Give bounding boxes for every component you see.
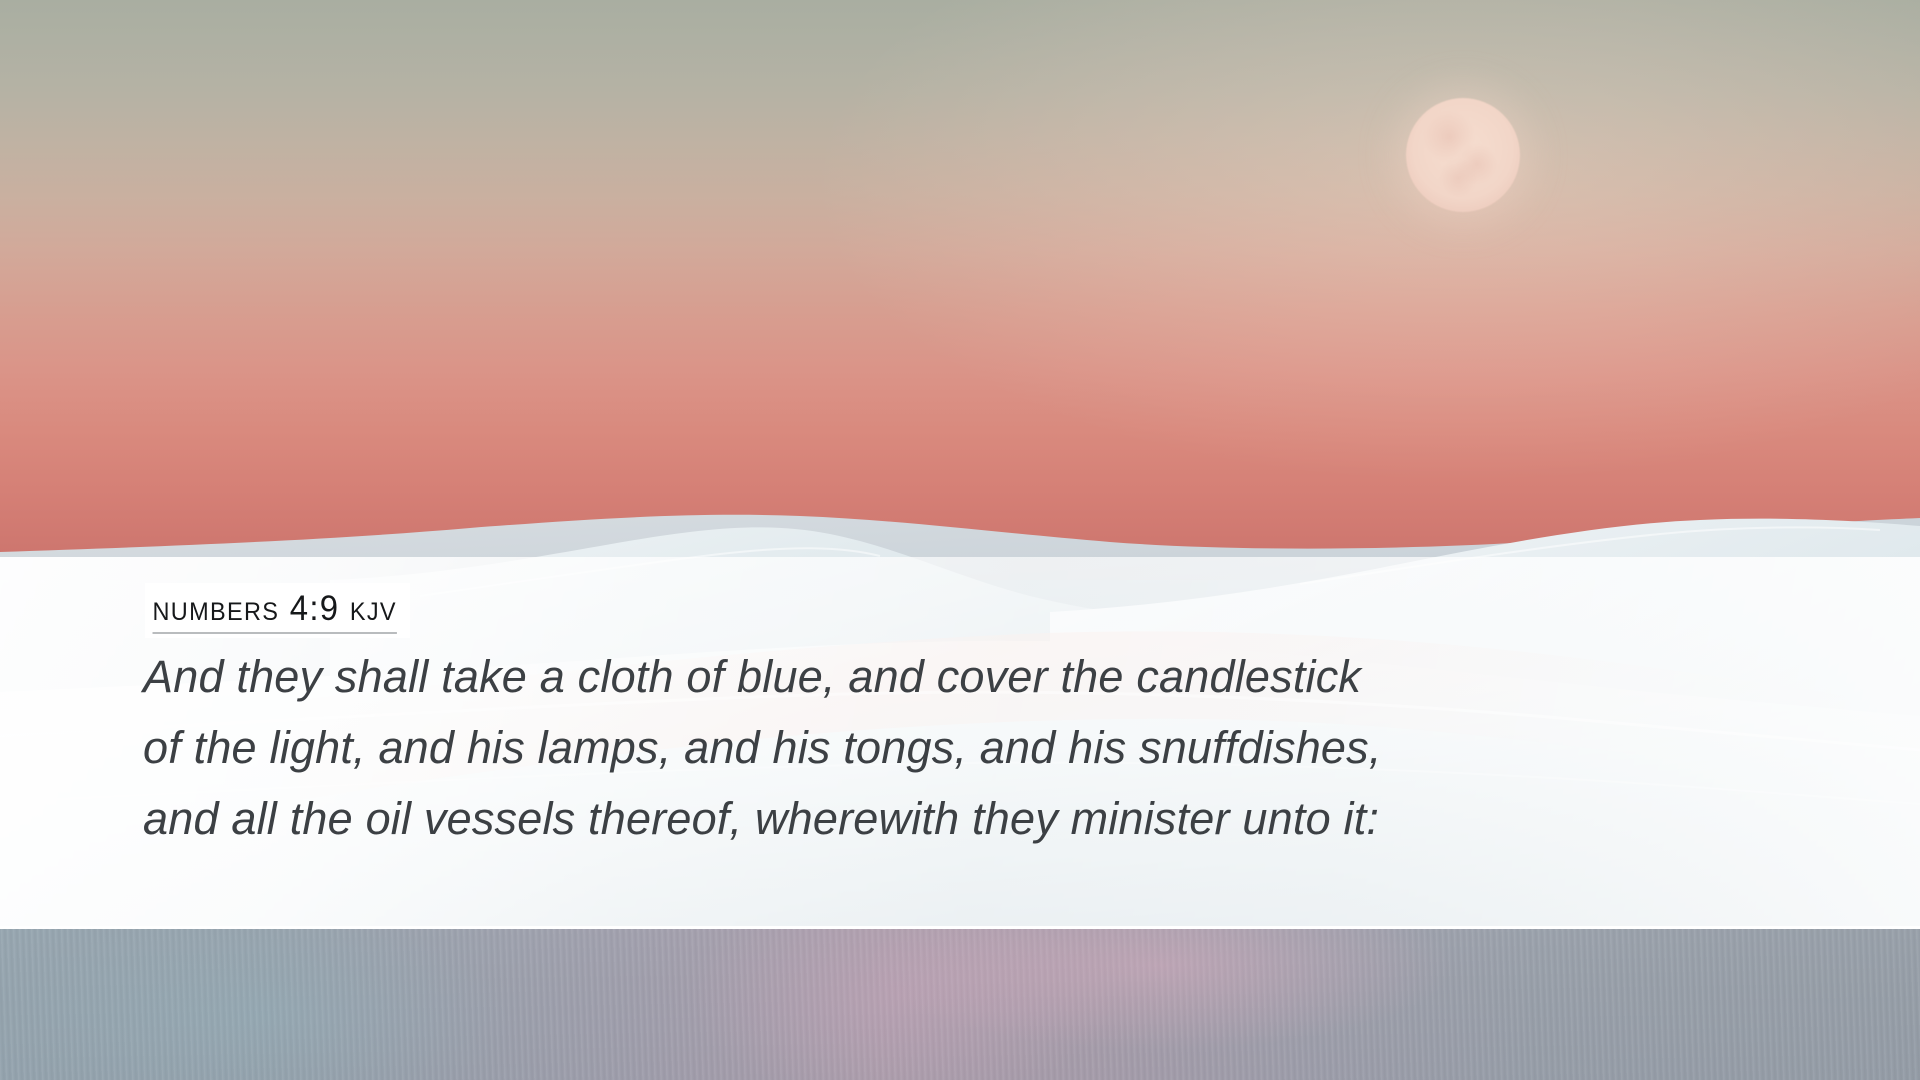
verse-reference: Numbers 4:9 KJV [145,583,410,638]
sand-color-glow [0,926,1920,1080]
verse-text: And they shall take a cloth of blue, and… [143,641,1843,854]
verse-reference-underline [153,632,397,634]
verse-line-3: and all the oil vessels thereof, wherewi… [143,783,1843,854]
verse-content: Numbers 4:9 KJV And they shall take a cl… [0,557,1920,926]
verse-line-2: of the light, and his lamps, and his ton… [143,712,1843,783]
foreground-sand [0,926,1920,1080]
verse-reference-wrap: Numbers 4:9 KJV [145,583,427,638]
moon-icon [1406,98,1520,212]
verse-line-1: And they shall take a cloth of blue, and… [143,641,1843,712]
verse-reference-label: Numbers 4:9 KJV [153,589,397,628]
verse-wallpaper: Numbers 4:9 KJV And they shall take a cl… [0,0,1920,1080]
